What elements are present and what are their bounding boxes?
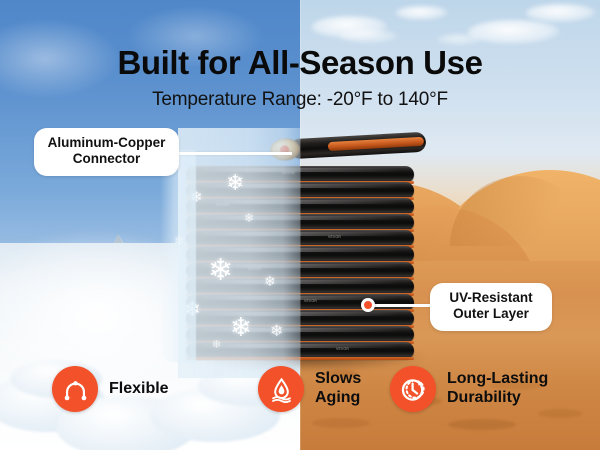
hose-loop: [186, 214, 414, 231]
hose-loop: [186, 246, 414, 263]
feature-label: Flexible: [109, 380, 169, 399]
hose-loop: [186, 278, 414, 295]
hose-loop: VEVOR: [186, 326, 414, 343]
callout-uv-resistant-outer-layer: UV-Resistant Outer Layer: [430, 283, 552, 331]
hose-loop: VEVOR: [186, 166, 414, 183]
hose-loop: VEVOR: [186, 342, 414, 359]
callout-aluminum-copper-connector: Aluminum-Copper Connector: [34, 128, 179, 176]
water-drop-icon: [258, 366, 304, 412]
feature-label: Slows Aging: [315, 370, 361, 408]
connector-leader-line: [176, 152, 292, 155]
feature-long-lasting-durability: Long-Lasting Durability: [390, 366, 548, 412]
feature-row: Flexible Slows Aging: [0, 366, 600, 422]
hose-loop: VEVOR: [186, 230, 414, 247]
uv-leader-line: [372, 304, 434, 307]
cloud: [468, 20, 560, 44]
flexible-arc-icon: [52, 366, 98, 412]
product-marketing-image: VEVOR VEVOR VEVOR VEVOR VEVOR VEVOR VEVO…: [0, 0, 600, 450]
hose-loop: VEVOR: [186, 294, 414, 311]
hose-loop: VEVOR: [186, 198, 414, 215]
hose-loop: [186, 310, 414, 327]
clock-arrow-icon: [390, 366, 436, 412]
subtitle-temperature-range: Temperature Range: -20°F to 140°F: [0, 89, 600, 111]
feature-flexible: Flexible: [52, 366, 169, 412]
uv-leader-dot: [361, 298, 375, 312]
hose-coil-product: VEVOR VEVOR VEVOR VEVOR VEVOR VEVOR VEVO…: [178, 148, 428, 363]
cloud: [526, 4, 596, 22]
cloud: [340, 30, 398, 43]
cloud: [396, 6, 448, 20]
hose-loop: [186, 182, 414, 199]
hose-loop: VEVOR: [186, 262, 414, 279]
page-title: Built for All-Season Use: [0, 44, 600, 82]
feature-label: Long-Lasting Durability: [447, 370, 548, 408]
feature-slows-aging: Slows Aging: [258, 366, 361, 412]
